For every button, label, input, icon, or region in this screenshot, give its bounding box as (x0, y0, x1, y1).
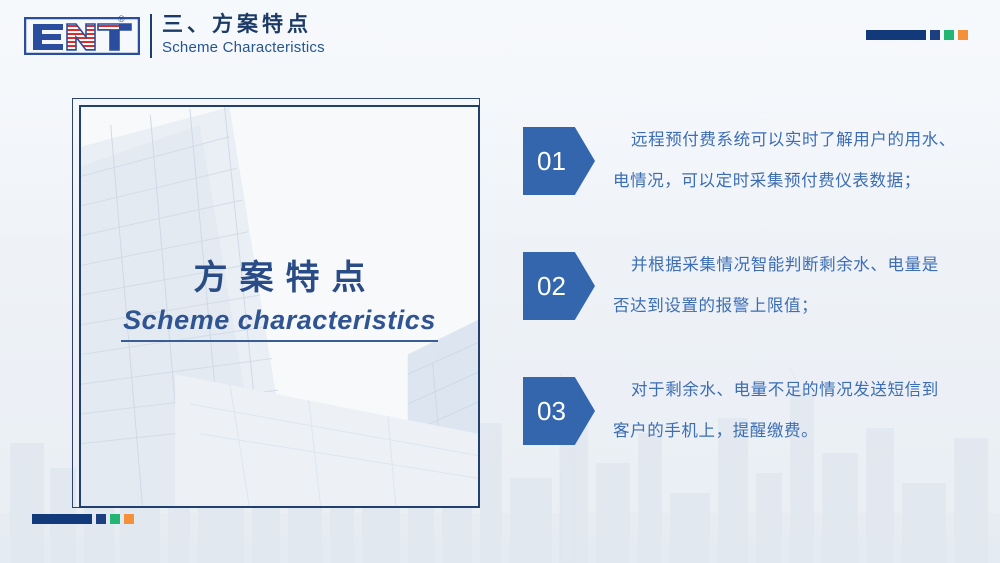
deco-square-navy (930, 30, 940, 40)
bullet-text-line2: 电情况，可以定时采集预付费仪表数据； (613, 161, 983, 202)
bullet-text: 远程预付费系统可以实时了解用户的用水、 电情况，可以定时采集预付费仪表数据； (613, 120, 983, 202)
bullet-item: 01 远程预付费系统可以实时了解用户的用水、 电情况，可以定时采集预付费仪表数据… (523, 120, 983, 245)
deco-square-orange (958, 30, 968, 40)
panel-title-en: Scheme characteristics (121, 305, 438, 342)
bullet-text-line1: 并根据采集情况智能判断剩余水、电量是 (613, 245, 983, 286)
bullet-number-badge: 01 (523, 127, 595, 195)
bullet-list: 01 远程预付费系统可以实时了解用户的用水、 电情况，可以定时采集预付费仪表数据… (523, 120, 983, 495)
deco-square-green (944, 30, 954, 40)
header-title-en: Scheme Characteristics (162, 39, 325, 56)
panel-title-cn: 方案特点 (79, 250, 480, 299)
slide-header: ® 三、方案特点 Scheme Characteristics (0, 0, 1000, 72)
bullet-text-line2: 否达到设置的报警上限值； (613, 286, 983, 327)
decoration-bottom-left (32, 514, 134, 524)
bullet-number-badge: 02 (523, 252, 595, 320)
bullet-item: 02 并根据采集情况智能判断剩余水、电量是 否达到设置的报警上限值； (523, 245, 983, 370)
bullet-text-line1: 远程预付费系统可以实时了解用户的用水、 (613, 120, 983, 161)
slide-canvas: ® 三、方案特点 Scheme Characteristics (0, 0, 1000, 563)
bullet-text: 并根据采集情况智能判断剩余水、电量是 否达到设置的报警上限值； (613, 245, 983, 327)
deco-square-green (110, 514, 120, 524)
deco-bar (32, 514, 92, 524)
decoration-top-right (866, 30, 968, 40)
bullet-text-line1: 对于剩余水、电量不足的情况发送短信到 (613, 370, 983, 411)
deco-square-orange (124, 514, 134, 524)
registered-mark: ® (118, 14, 125, 24)
bullet-text: 对于剩余水、电量不足的情况发送短信到 客户的手机上，提醒缴费。 (613, 370, 983, 452)
header-title-cn: 三、方案特点 (162, 12, 312, 38)
deco-square-navy (96, 514, 106, 524)
bullet-number-badge: 03 (523, 377, 595, 445)
panel-title-en-wrap: Scheme characteristics (79, 305, 480, 342)
header-divider (150, 14, 152, 58)
bullet-item: 03 对于剩余水、电量不足的情况发送短信到 客户的手机上，提醒缴费。 (523, 370, 983, 495)
deco-bar (866, 30, 926, 40)
bullet-text-line2: 客户的手机上，提醒缴费。 (613, 411, 983, 452)
